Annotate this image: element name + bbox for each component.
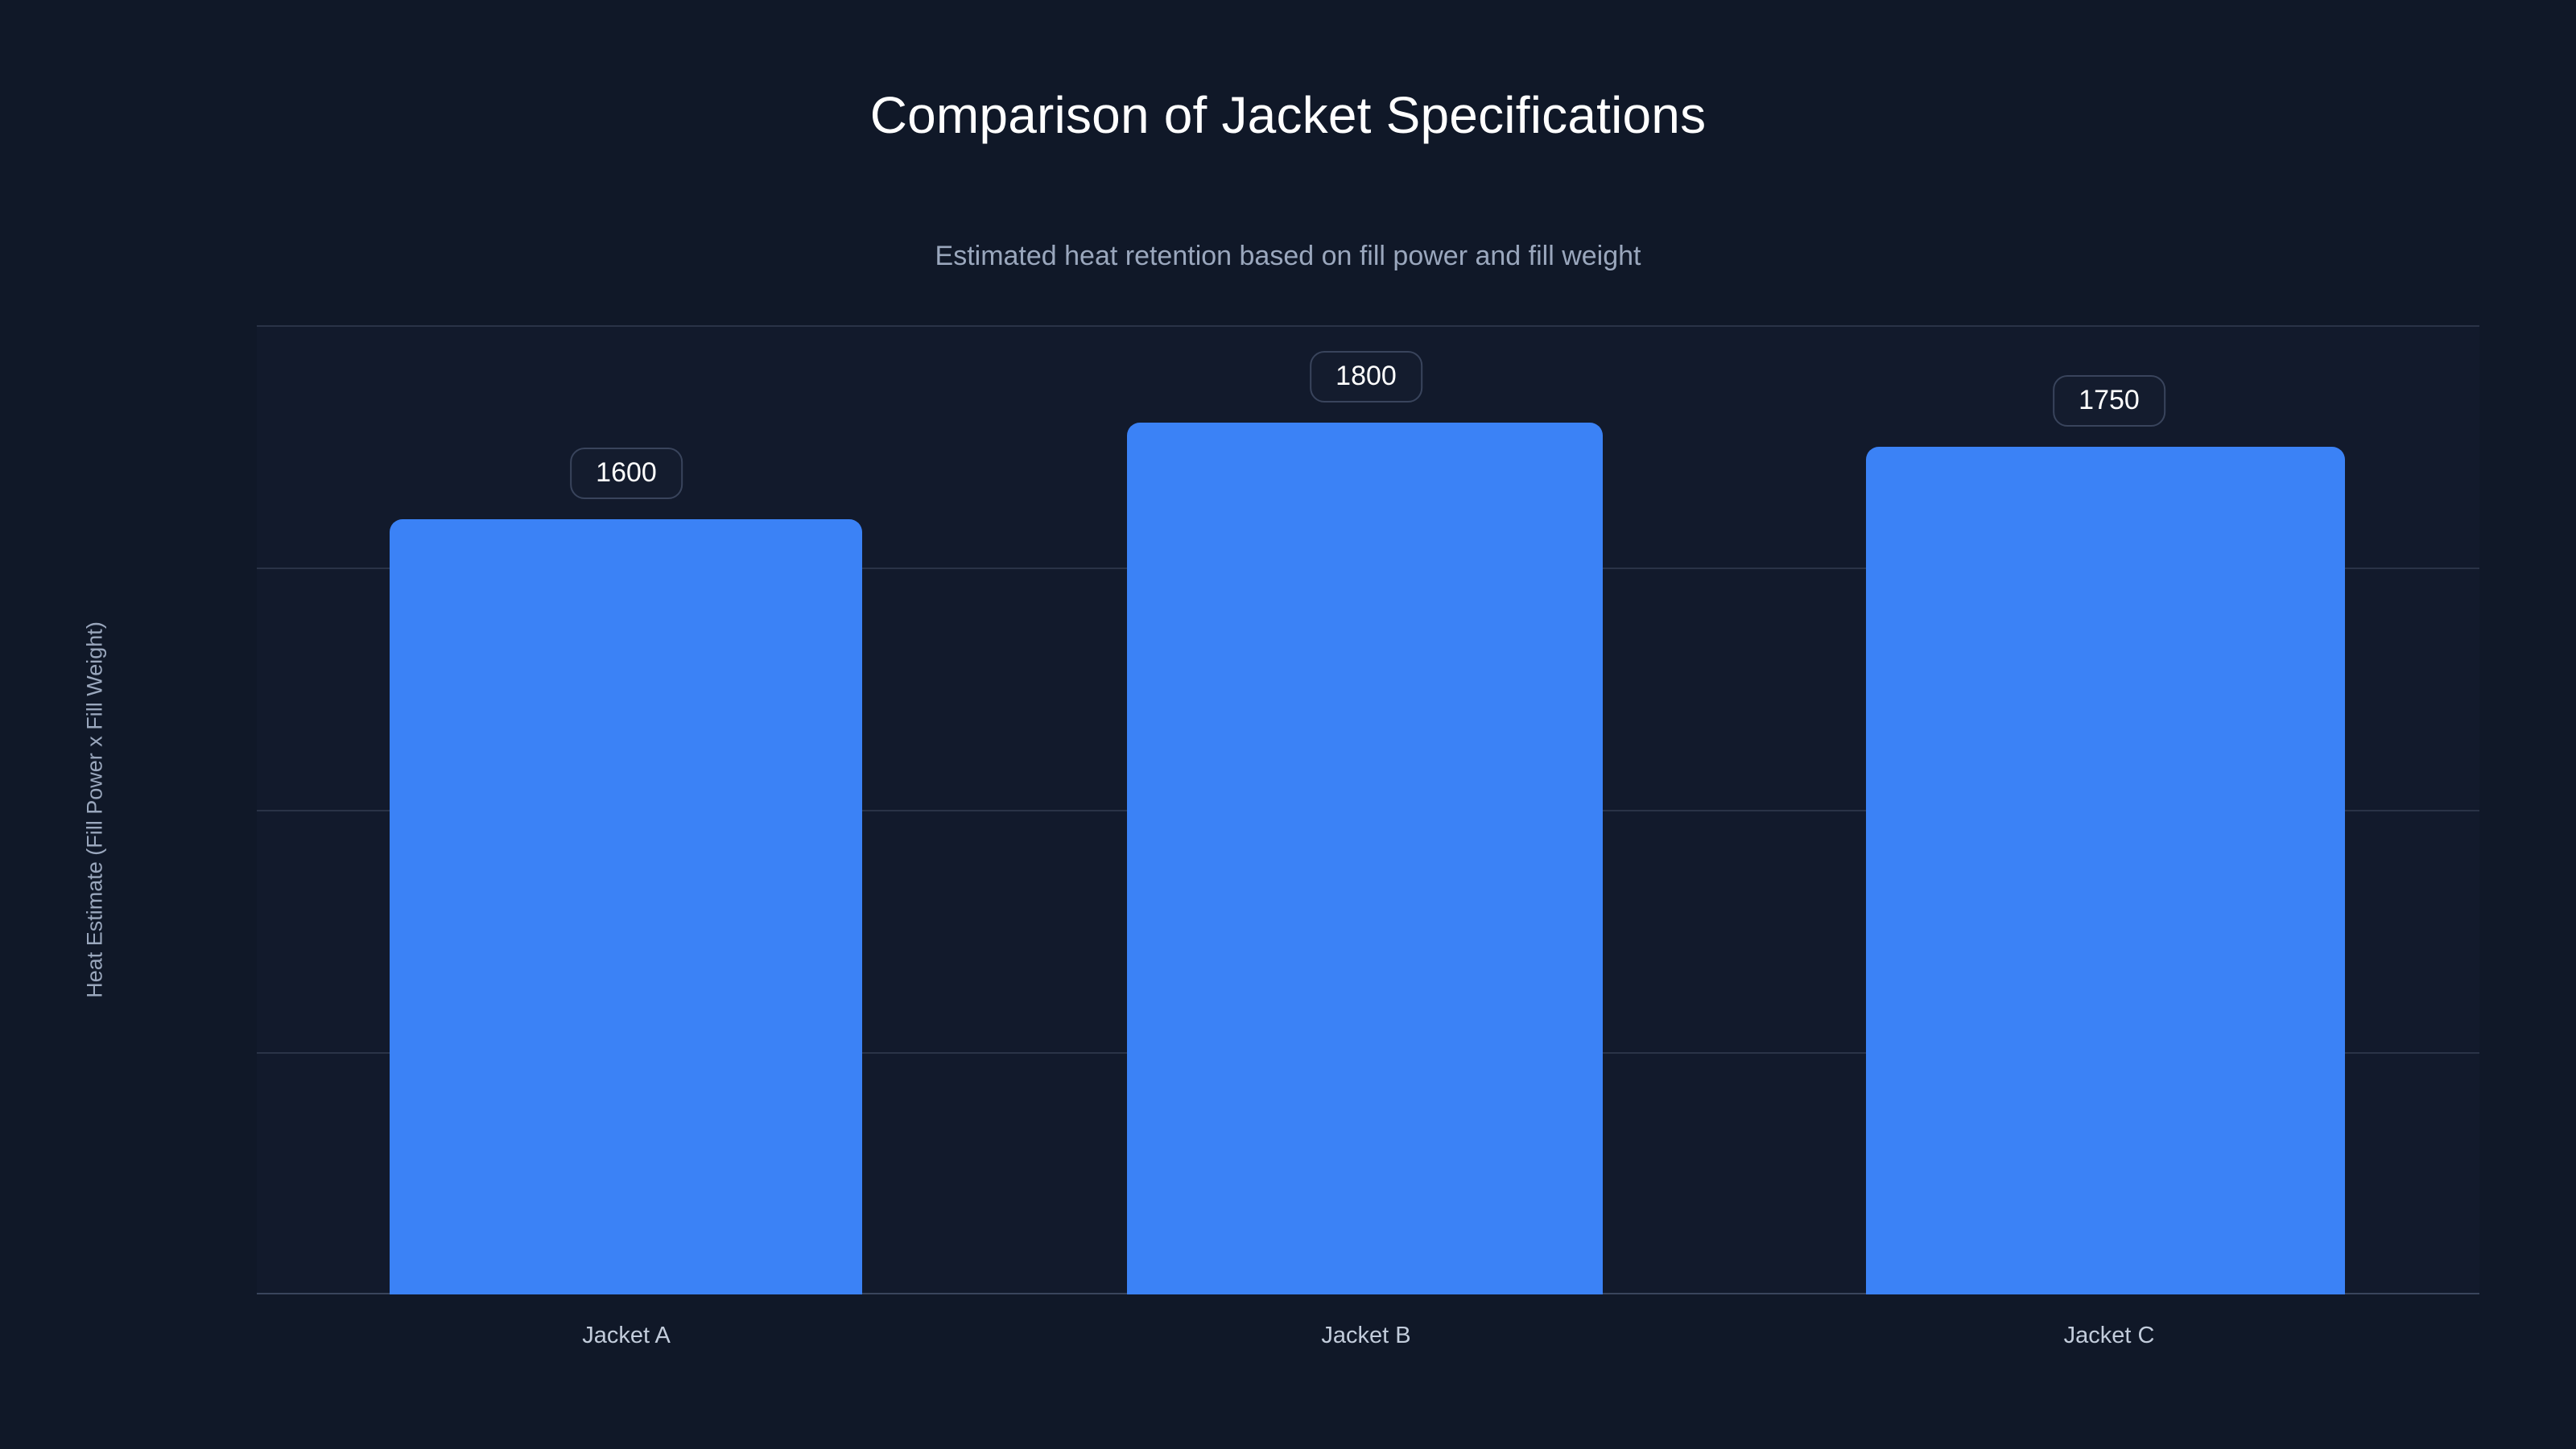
value-badge-jacket-c[interactable]: 1750 — [2053, 375, 2165, 427]
value-badge-jacket-b[interactable]: 1800 — [1310, 351, 1422, 402]
y-axis-title: Heat Estimate (Fill Power x Fill Weight) — [83, 621, 108, 998]
value-badge-jacket-a[interactable]: 1600 — [570, 448, 683, 499]
gridline-2000 — [257, 325, 2479, 327]
x-tick-label-jacket-b: Jacket B — [1321, 1323, 1410, 1349]
page-title: Comparison of Jacket Specifications — [0, 87, 2576, 143]
bar-jacket-b[interactable] — [1127, 423, 1603, 1294]
chart-subtitle: Estimated heat retention based on fill p… — [0, 242, 2576, 271]
bar-jacket-c[interactable] — [1866, 447, 2345, 1294]
bar-chart: Comparison of Jacket Specifications Esti… — [0, 0, 2576, 1449]
x-tick-label-jacket-a: Jacket A — [582, 1323, 671, 1349]
bar-jacket-a[interactable] — [390, 519, 862, 1294]
x-tick-label-jacket-c: Jacket C — [2064, 1323, 2155, 1349]
